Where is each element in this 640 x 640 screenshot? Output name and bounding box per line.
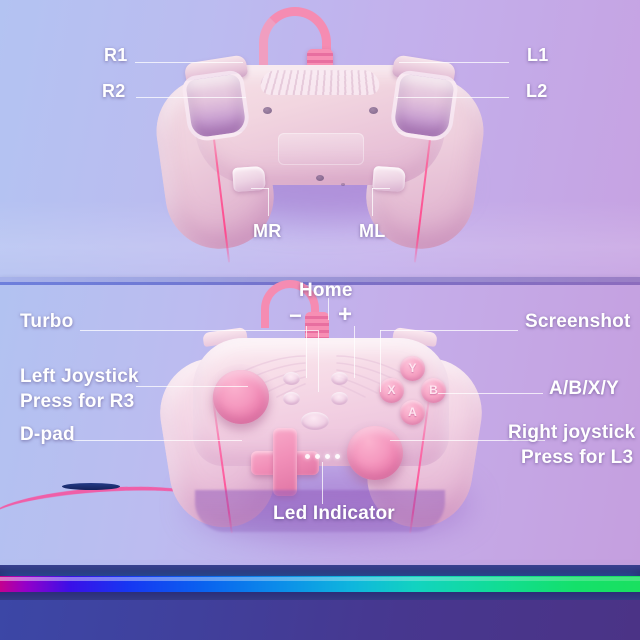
- joystick-right[interactable]: [347, 426, 403, 480]
- label-r2: R2: [102, 81, 125, 102]
- stage-edge-bottom: [0, 592, 640, 600]
- label-turbo: Turbo: [20, 311, 73, 333]
- trigger-r2: [181, 69, 252, 143]
- face-button-b[interactable]: B: [421, 378, 446, 403]
- label-left-joystick-line1: Left Joystick: [20, 366, 139, 388]
- led-dot: [305, 454, 310, 459]
- leader-line-mr: [268, 188, 269, 216]
- screenshot-button[interactable]: [331, 392, 348, 405]
- leader-line-plus-v: [354, 326, 355, 378]
- screw-left: [263, 107, 272, 114]
- leader-line-turbo: [80, 330, 318, 331]
- plus-glyph-label: +: [338, 301, 352, 329]
- leader-line-screenshot-v: [380, 330, 381, 392]
- label-l2: L2: [526, 81, 547, 102]
- leader-line-r1: [135, 62, 243, 63]
- label-abxy: A/B/X/Y: [549, 378, 619, 400]
- leader-line-led-v: [322, 462, 323, 504]
- label-left-joystick-line2: Press for R3: [20, 391, 134, 413]
- joystick-left[interactable]: [213, 370, 269, 424]
- stage-edge-top: [0, 565, 640, 576]
- label-led-indicator: Led Indicator: [273, 503, 395, 525]
- minus-glyph-label: −: [289, 303, 302, 329]
- label-mr: MR: [253, 221, 281, 242]
- leader-line-abxy: [438, 393, 543, 394]
- label-ml: ML: [359, 221, 385, 242]
- plus-button[interactable]: [331, 372, 348, 385]
- leader-line-ml: [372, 188, 373, 216]
- leader-line-ml-h: [372, 188, 390, 189]
- screw-right: [369, 107, 378, 114]
- led-indicator: [305, 454, 340, 459]
- leader-line-screenshot: [380, 330, 518, 331]
- leader-line-mr-h: [251, 188, 269, 189]
- label-l1: L1: [527, 45, 548, 66]
- controller-back-view: [155, 55, 485, 260]
- turbo-button[interactable]: [283, 392, 300, 405]
- leader-line-l1: [399, 62, 509, 63]
- leader-line-minus-v: [306, 326, 307, 378]
- dpad[interactable]: [251, 428, 319, 496]
- label-right-joystick-line2: Press for L3: [521, 447, 633, 469]
- screenshot-root: R1 R2 L1 L2 MR ML: [0, 0, 640, 640]
- back-view-panel: R1 R2 L1 L2 MR ML: [0, 0, 640, 285]
- minus-button[interactable]: [283, 372, 300, 385]
- leader-line-left-joystick: [136, 386, 248, 387]
- leader-line-dpad: [72, 440, 242, 441]
- label-r1: R1: [104, 45, 127, 66]
- desk-chip: [62, 483, 120, 490]
- led-dot: [315, 454, 320, 459]
- stage-floor: [0, 600, 640, 640]
- face-button-a[interactable]: A: [400, 400, 425, 425]
- battery-door: [278, 133, 364, 165]
- label-dpad: D-pad: [20, 424, 75, 446]
- trigger-l2: [389, 69, 460, 143]
- led-dot: [325, 454, 330, 459]
- screw-center: [316, 175, 324, 181]
- face-button-x[interactable]: X: [379, 378, 404, 403]
- home-button[interactable]: [301, 412, 329, 430]
- face-button-y[interactable]: Y: [400, 356, 425, 381]
- leader-line-turbo-v: [318, 330, 319, 392]
- label-right-joystick-line1: Right joystick: [508, 422, 635, 444]
- leader-line-l2: [396, 97, 509, 98]
- label-screenshot: Screenshot: [525, 311, 630, 333]
- dpad-vertical-arm: [273, 428, 297, 496]
- screw-tiny: [341, 183, 345, 186]
- label-home: Home: [299, 280, 353, 302]
- rainbow-strip-gloss: [0, 577, 640, 581]
- vent-grille: [258, 70, 382, 95]
- leader-line-r2: [136, 97, 246, 98]
- led-dot: [335, 454, 340, 459]
